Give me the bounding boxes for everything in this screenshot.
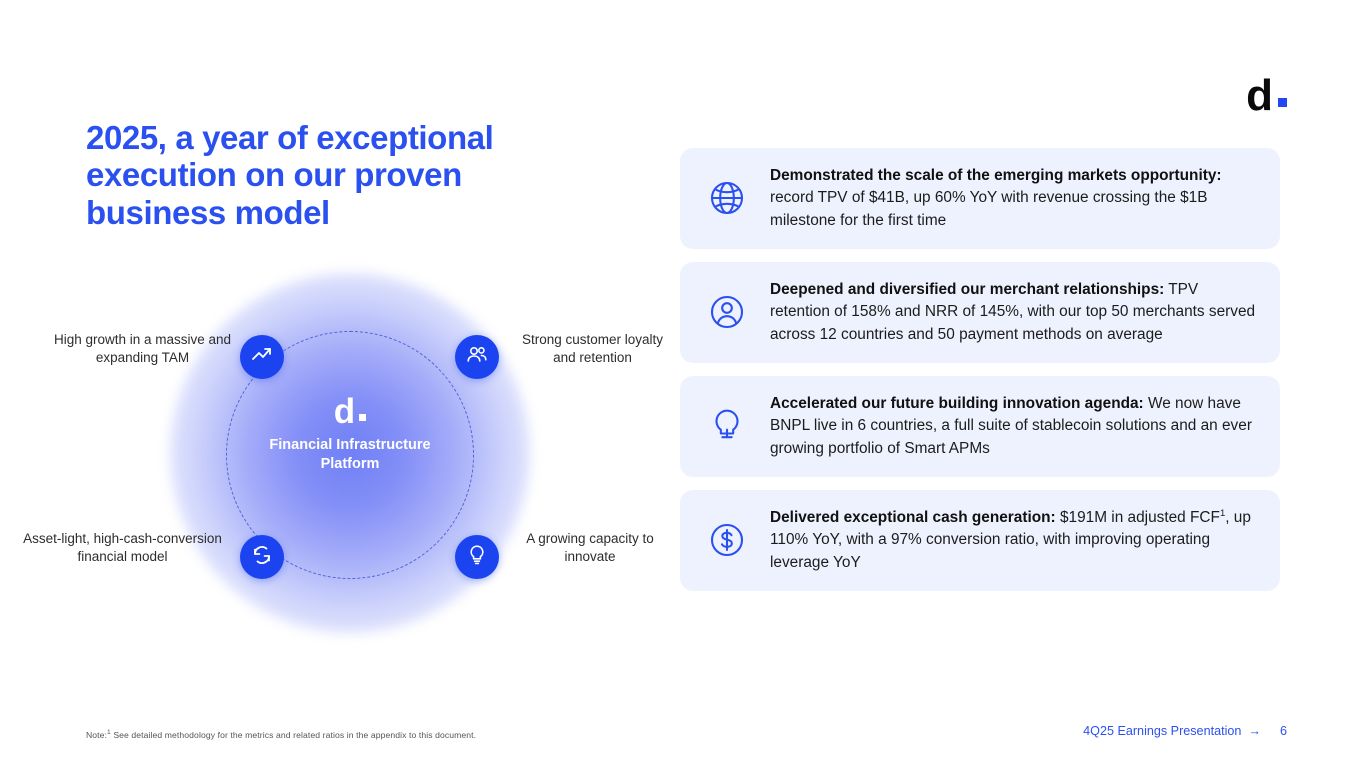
globe-icon: [702, 178, 752, 218]
highlight-text: Deepened and diversified our merchant re…: [770, 279, 1256, 346]
highlight-text: Delivered exceptional cash generation: $…: [770, 507, 1256, 574]
deck-label: 4Q25 Earnings Presentation: [1083, 724, 1241, 738]
footnote: Note:1 See detailed methodology for the …: [86, 729, 476, 740]
brand-dot-icon: [1278, 98, 1287, 107]
highlight-lead: Demonstrated the scale of the emerging m…: [770, 167, 1222, 184]
center-brand-letter: d: [334, 398, 354, 427]
footnote-prefix: Note:: [86, 730, 107, 740]
page-title: 2025, a year of exceptional execution on…: [86, 119, 606, 231]
center-brand-dot-icon: [359, 414, 366, 421]
diagram-center: d Financial Infrastructure Platform: [250, 398, 450, 474]
slide-footer[interactable]: 4Q25 Earnings Presentation → 6: [1083, 724, 1287, 738]
platform-diagram: d Financial Infrastructure Platform: [60, 258, 660, 648]
dollar-circle-icon: [702, 520, 752, 560]
diagram-node-asset-light[interactable]: [240, 535, 284, 579]
center-subtitle: Financial Infrastructure Platform: [250, 436, 450, 475]
lightbulb-icon: [465, 543, 489, 572]
brand-letter: d: [1246, 78, 1272, 114]
highlight-card[interactable]: Accelerated our future building innovati…: [680, 376, 1280, 477]
user-circle-icon: [702, 292, 752, 332]
slide: d 2025, a year of exceptional execution …: [0, 0, 1365, 768]
diagram-node-innovate[interactable]: [455, 535, 499, 579]
highlight-lead: Delivered exceptional cash generation:: [770, 509, 1056, 526]
diagram-node-growth[interactable]: [240, 335, 284, 379]
trending-up-icon: [250, 343, 274, 372]
footnote-text: See detailed methodology for the metrics…: [113, 730, 476, 740]
highlight-text: Demonstrated the scale of the emerging m…: [770, 165, 1256, 232]
highlight-card[interactable]: Demonstrated the scale of the emerging m…: [680, 148, 1280, 249]
refresh-cycle-icon: [250, 543, 274, 572]
center-logo: d: [250, 398, 450, 427]
highlight-card[interactable]: Delivered exceptional cash generation: $…: [680, 490, 1280, 591]
highlight-body-pre: $191M in adjusted FCF: [1056, 509, 1220, 526]
lightbulb-outline-icon: [702, 406, 752, 446]
highlight-text: Accelerated our future building innovati…: [770, 393, 1256, 460]
highlight-lead: Accelerated our future building innovati…: [770, 395, 1144, 412]
highlight-lead: Deepened and diversified our merchant re…: [770, 281, 1164, 298]
diagram-node-loyalty[interactable]: [455, 335, 499, 379]
users-icon: [465, 343, 489, 372]
diagram-label-asset-light: Asset-light, high-cash-conversion financ…: [5, 530, 240, 566]
arrow-right-icon: →: [1248, 724, 1261, 738]
footnote-marker: 1: [107, 729, 111, 736]
brand-logo: d: [1246, 78, 1287, 114]
page-number: 6: [1280, 724, 1287, 738]
highlight-body: record TPV of $41B, up 60% YoY with reve…: [770, 189, 1208, 228]
diagram-label-growth: High growth in a massive and expanding T…: [50, 331, 235, 367]
diagram-label-innovate: A growing capacity to innovate: [510, 530, 670, 566]
highlights-list: Demonstrated the scale of the emerging m…: [680, 148, 1280, 604]
highlight-card[interactable]: Deepened and diversified our merchant re…: [680, 262, 1280, 363]
diagram-label-loyalty: Strong customer loyalty and retention: [510, 331, 675, 367]
